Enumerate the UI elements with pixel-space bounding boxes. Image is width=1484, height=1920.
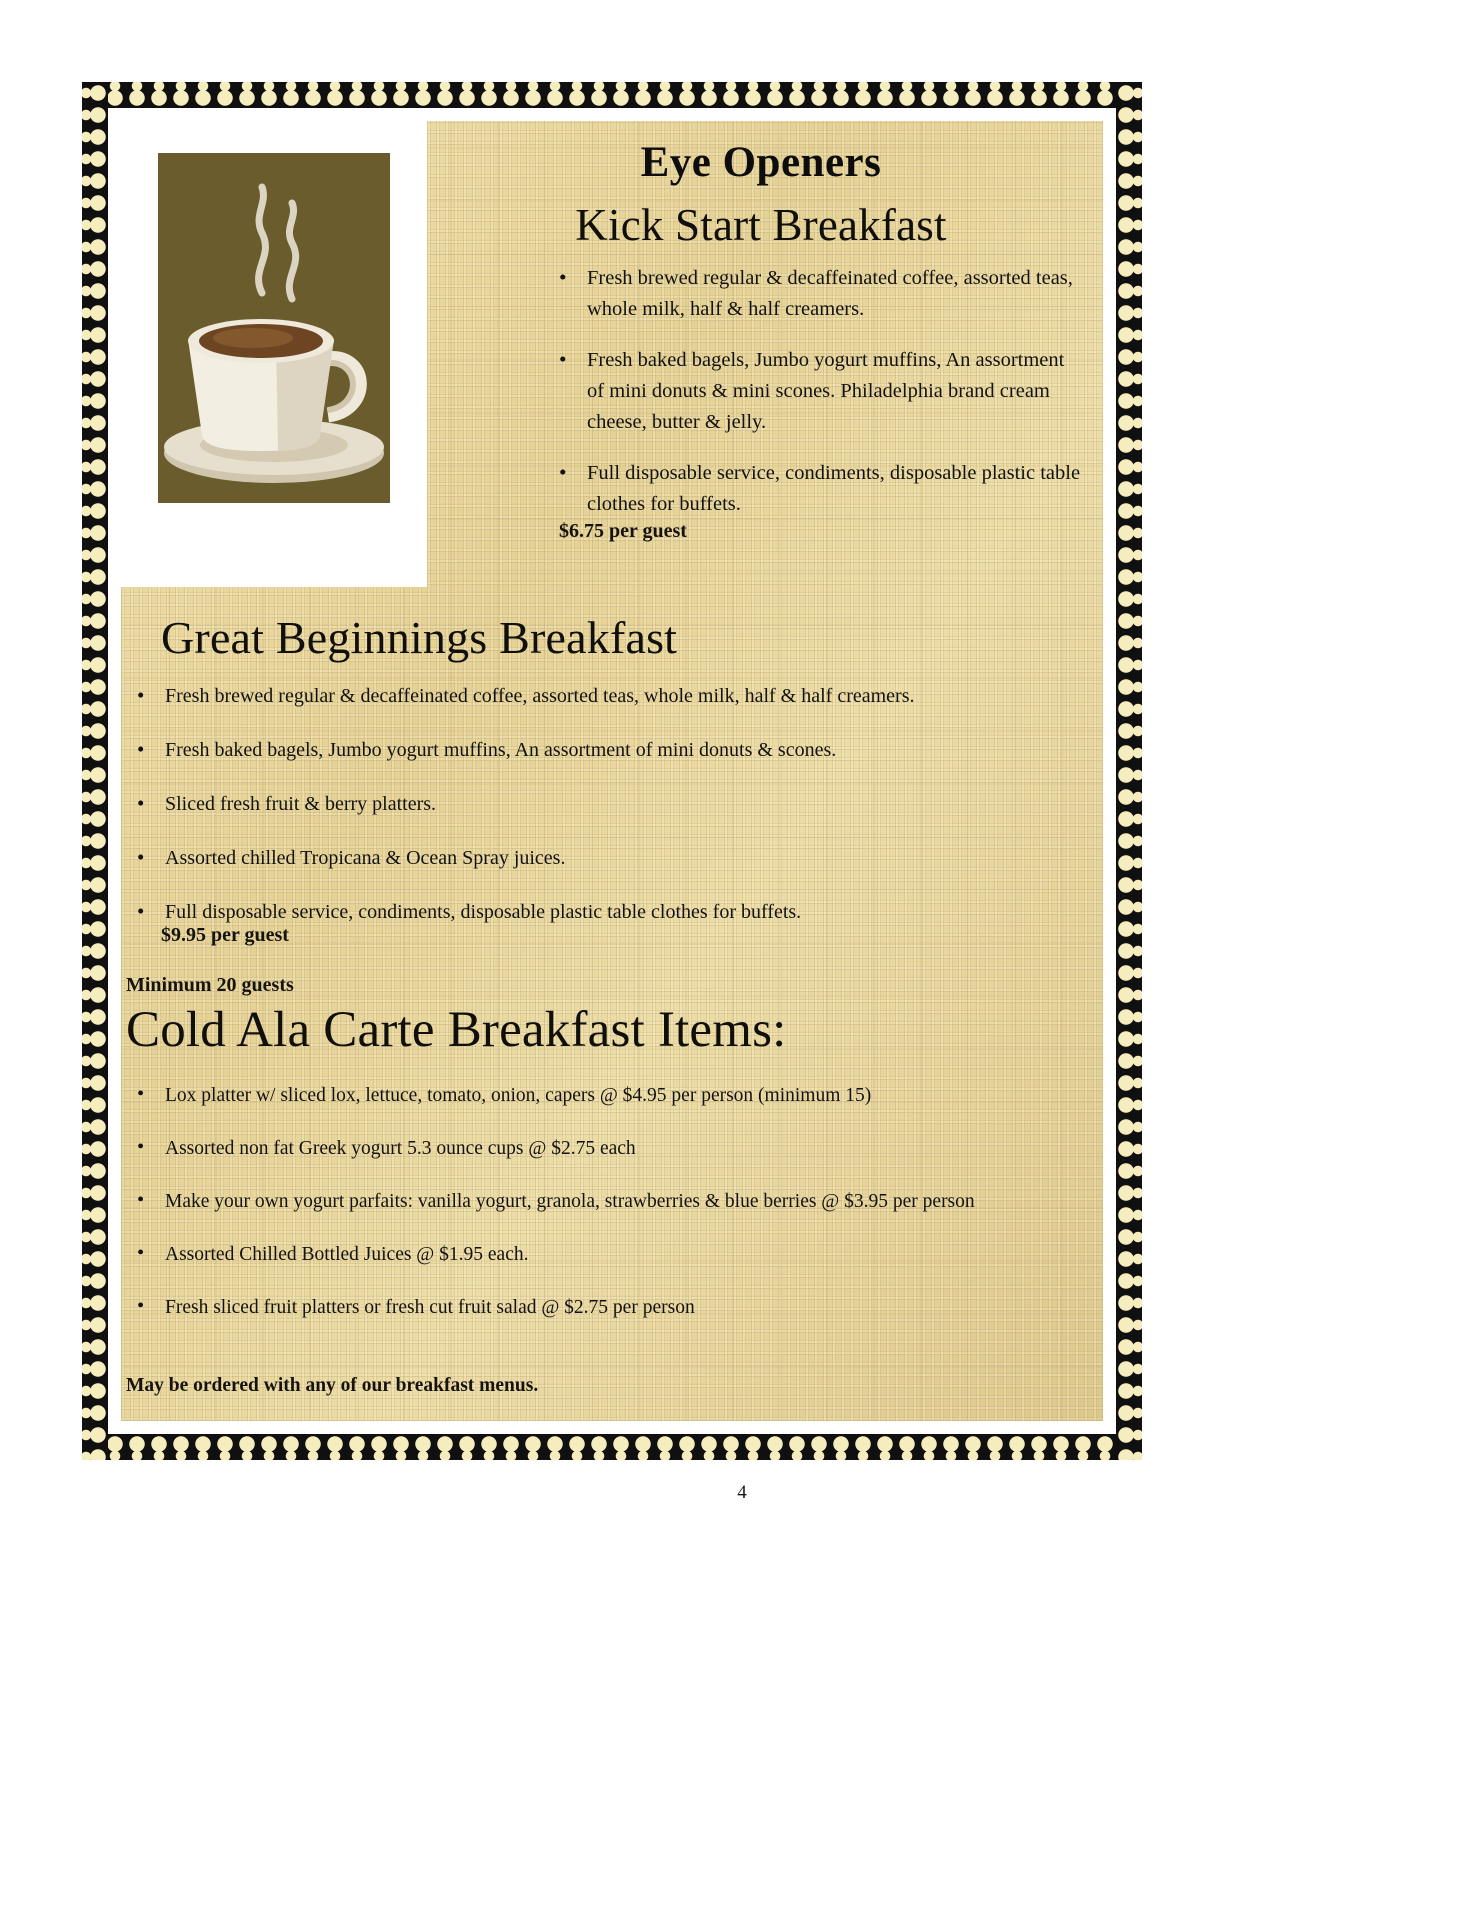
- menu-page: Eye Openers Kick Start Breakfast Fresh b…: [0, 0, 1484, 1920]
- list-item: Make your own yogurt parfaits: vanilla y…: [129, 1187, 1009, 1216]
- list-item: Fresh brewed regular & decaffeinated cof…: [129, 681, 1009, 711]
- price-great-beginnings: $9.95 per guest: [161, 924, 289, 947]
- page-title: Eye Openers: [451, 138, 1071, 187]
- decorative-border-frame: Eye Openers Kick Start Breakfast Fresh b…: [82, 82, 1142, 1460]
- border-band-bottom: [82, 1434, 1142, 1460]
- list-item: Assorted Chilled Bottled Juices @ $1.95 …: [129, 1240, 1009, 1269]
- list-item: Full disposable service, condiments, dis…: [129, 897, 1009, 927]
- list-item: Sliced fresh fruit & berry platters.: [129, 789, 1009, 819]
- coffee-cup-illustration-icon: [158, 153, 390, 503]
- cold-ala-carte-note: May be ordered with any of our breakfast…: [126, 1375, 538, 1397]
- list-item: Full disposable service, condiments, dis…: [551, 458, 1081, 520]
- list-item: Fresh brewed regular & decaffeinated cof…: [551, 263, 1081, 325]
- border-band-left: [82, 82, 108, 1460]
- list-item: Fresh sliced fruit platters or fresh cut…: [129, 1293, 1009, 1322]
- scallop-motif-icon: [82, 82, 108, 1460]
- coffee-cup-image: [121, 121, 427, 587]
- bullet-list-kick-start: Fresh brewed regular & decaffeinated cof…: [551, 263, 1081, 540]
- list-item: Assorted non fat Greek yogurt 5.3 ounce …: [129, 1134, 1009, 1163]
- minimum-guests-note: Minimum 20 guests: [126, 974, 294, 997]
- bullet-list-great-beginnings: Fresh brewed regular & decaffeinated cof…: [129, 681, 1009, 951]
- scallop-motif-icon: [1116, 82, 1142, 1460]
- list-item: Fresh baked bagels, Jumbo yogurt muffins…: [129, 735, 1009, 765]
- parchment-background: Eye Openers Kick Start Breakfast Fresh b…: [121, 121, 1103, 1421]
- list-item: Assorted chilled Tropicana & Ocean Spray…: [129, 843, 1009, 873]
- section-heading-kick-start: Kick Start Breakfast: [451, 199, 1071, 251]
- menu-content: Eye Openers Kick Start Breakfast Fresh b…: [121, 121, 1103, 1421]
- border-band-right: [1116, 82, 1142, 1460]
- list-item: Lox platter w/ sliced lox, lettuce, toma…: [129, 1081, 1009, 1110]
- border-band-top: [82, 82, 1142, 108]
- scallop-motif-icon: [82, 82, 1142, 108]
- list-item: Fresh baked bagels, Jumbo yogurt muffins…: [551, 345, 1081, 438]
- bullet-list-cold-ala-carte: Lox platter w/ sliced lox, lettuce, toma…: [129, 1081, 1009, 1346]
- scallop-motif-icon: [82, 1434, 1142, 1460]
- section-heading-cold-ala-carte: Cold Ala Carte Breakfast Items:: [126, 1001, 1026, 1059]
- section-heading-great-beginnings: Great Beginnings Breakfast: [161, 611, 961, 664]
- price-kick-start: $6.75 per guest: [559, 520, 687, 543]
- page-number: 4: [0, 1482, 1484, 1504]
